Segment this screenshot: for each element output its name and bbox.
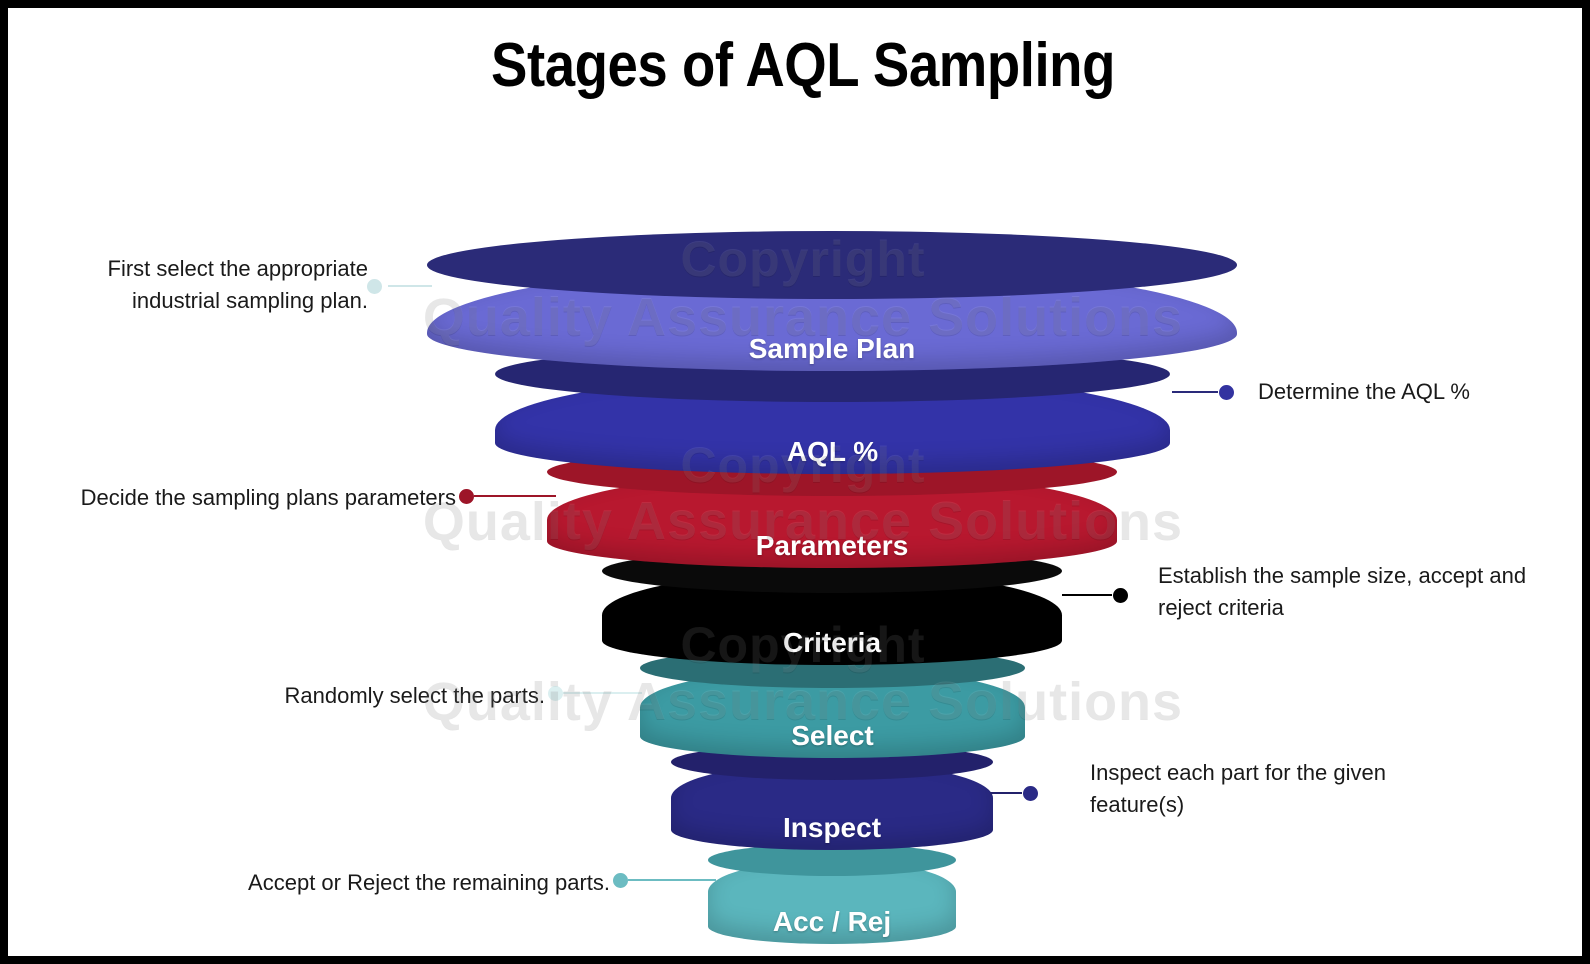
- stage-top-ellipse: [427, 231, 1237, 299]
- connector-line: [474, 495, 556, 497]
- callout-text: Determine the AQL %: [1258, 376, 1558, 408]
- callout-text: Establish the sample size, accept and re…: [1158, 560, 1528, 624]
- callout-text: Accept or Reject the remaining parts.: [198, 867, 610, 899]
- callout-text: Randomly select the parts.: [218, 680, 545, 712]
- funnel-stages: Sample PlanFirst select the appropriate …: [8, 8, 1590, 964]
- funnel-stage-acc-rej[interactable]: Acc / Rej: [708, 844, 956, 944]
- stage-label: AQL %: [495, 436, 1170, 468]
- connector-dot: [1219, 385, 1234, 400]
- callout-text: First select the appropriate industrial …: [48, 253, 368, 317]
- connector-line: [628, 879, 716, 881]
- funnel-stage-inspect[interactable]: Inspect: [671, 744, 993, 850]
- callout-text: Decide the sampling plans parameters: [48, 482, 456, 514]
- connector-dot: [367, 279, 382, 294]
- stage-label: Inspect: [671, 812, 993, 844]
- connector-line: [1062, 594, 1112, 596]
- callout-text: Inspect each part for the given feature(…: [1090, 757, 1440, 821]
- funnel-stage-sample-plan[interactable]: Sample Plan: [427, 231, 1237, 371]
- stage-label: Criteria: [602, 627, 1062, 659]
- stage-label: Parameters: [547, 530, 1117, 562]
- connector-line: [388, 285, 432, 287]
- connector-dot: [548, 686, 563, 701]
- stage-label: Select: [640, 720, 1025, 752]
- stage-label: Acc / Rej: [708, 906, 956, 938]
- connector-dot: [459, 489, 474, 504]
- funnel-diagram-page: Stages of AQL Sampling Copyright Quality…: [0, 0, 1590, 964]
- connector-line: [990, 792, 1022, 794]
- connector-line: [1172, 391, 1218, 393]
- stage-label: Sample Plan: [427, 333, 1237, 365]
- connector-dot: [613, 873, 628, 888]
- connector-dot: [1023, 786, 1038, 801]
- connector-line: [563, 692, 642, 694]
- connector-dot: [1113, 588, 1128, 603]
